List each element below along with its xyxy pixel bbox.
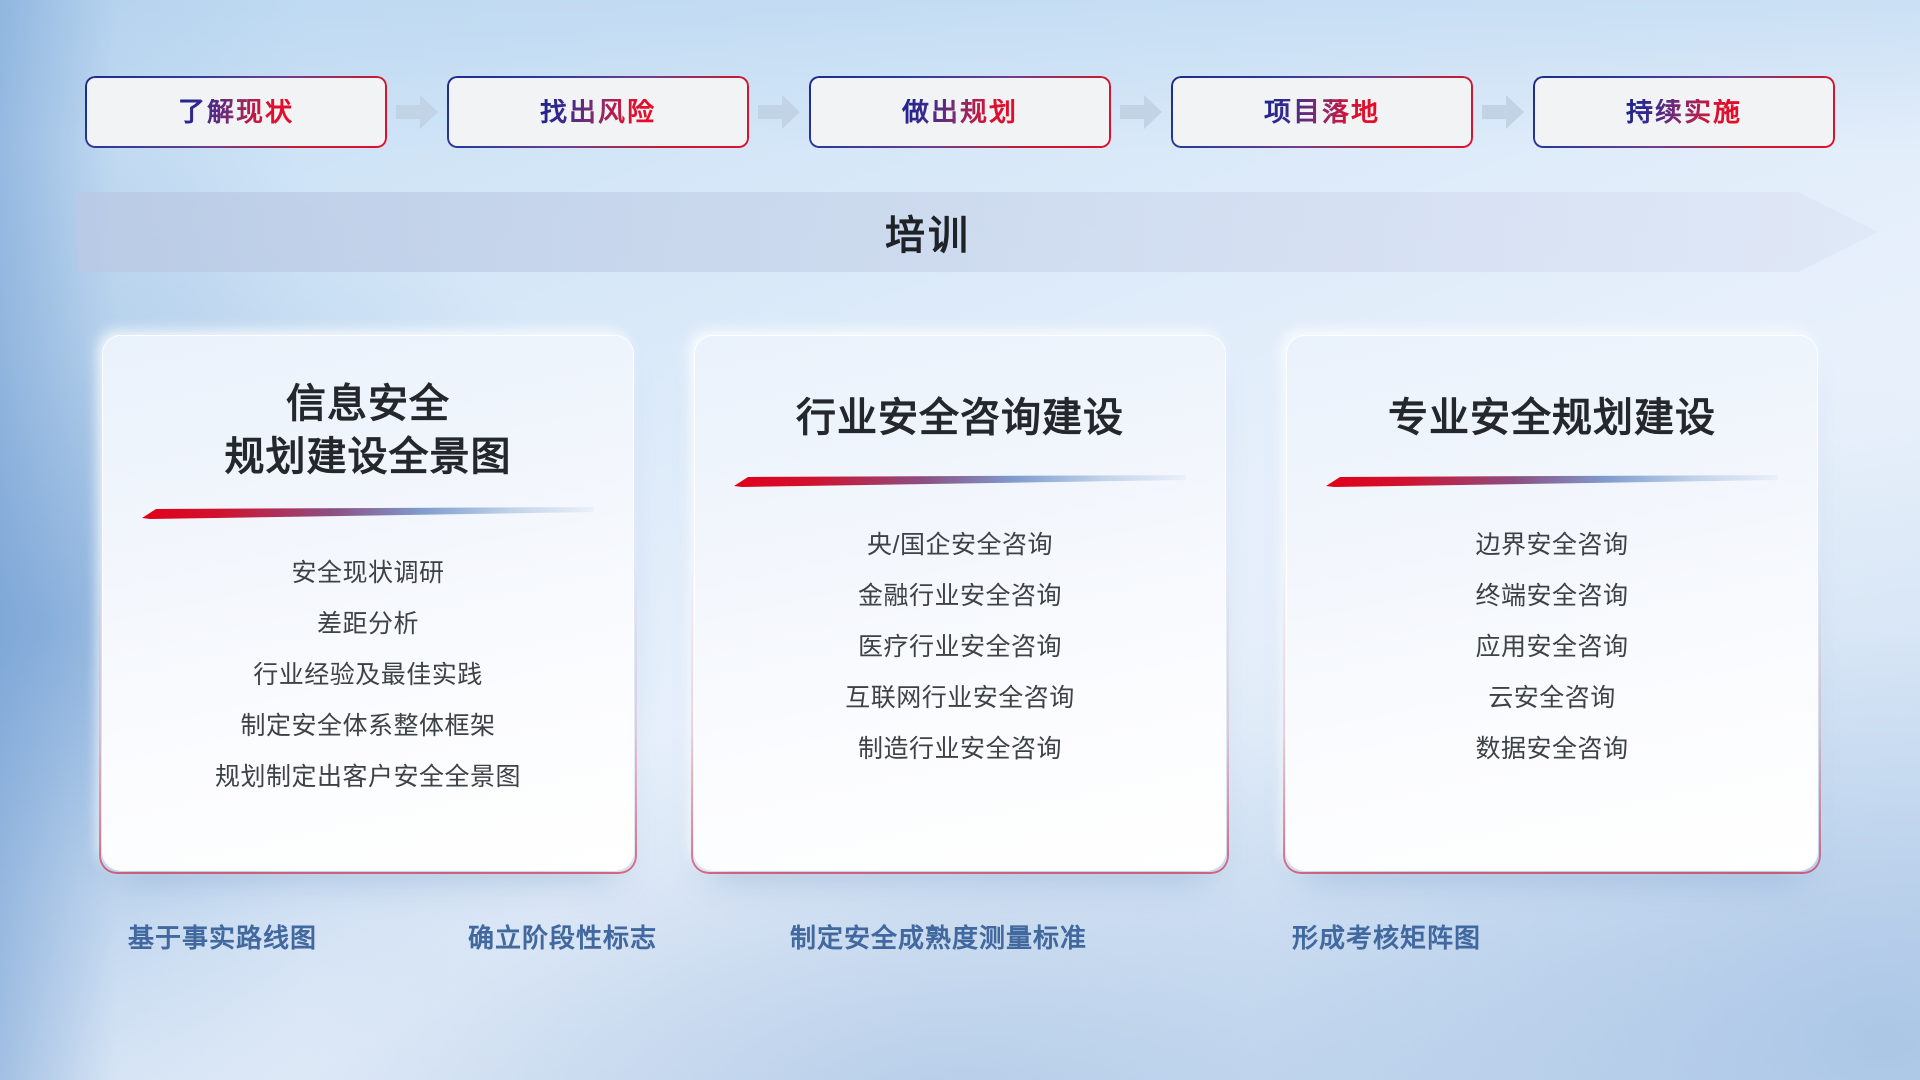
step-box-5[interactable]: 持续实施: [1533, 76, 1835, 148]
training-banner: 培训: [78, 192, 1878, 272]
bottom-label-1: 基于事实路线图: [128, 908, 317, 964]
card-list-item: 行业经验及最佳实践: [253, 650, 483, 701]
step-arrow-icon-3: [1111, 76, 1171, 148]
card-list-item: 央/国企安全咨询: [867, 520, 1053, 571]
card-list-item: 规划制定出客户安全全景图: [215, 752, 521, 803]
card-divider-3: [1326, 474, 1778, 486]
card-list-item: 安全现状调研: [291, 548, 444, 599]
card-2[interactable]: 行业安全咨询建设: [695, 336, 1225, 870]
card-list-item: 云安全咨询: [1488, 673, 1616, 724]
card-list-item: 金融行业安全咨询: [858, 571, 1062, 622]
step-arrow-icon-1: [387, 76, 447, 148]
card-row: 信息安全 规划建设全景图: [0, 336, 1920, 870]
process-step-row: 了解现状 找出风险 做出规划 项目落地 持续实施: [0, 74, 1920, 150]
card-title-1: 信息安全 规划建设全景图: [225, 378, 512, 484]
step-label-1: 了解现状: [178, 99, 294, 126]
card-list-3: 边界安全咨询 终端安全咨询 应用安全咨询 云安全咨询 数据安全咨询: [1287, 520, 1817, 775]
card-list-item: 终端安全咨询: [1475, 571, 1628, 622]
step-box-2[interactable]: 找出风险: [447, 76, 749, 148]
card-title-3: 专业安全规划建设: [1388, 392, 1716, 448]
card-list-item: 医疗行业安全咨询: [858, 622, 1062, 673]
card-list-1: 安全现状调研 差距分析 行业经验及最佳实践 制定安全体系整体框架 规划制定出客户…: [103, 548, 633, 803]
step-label-5: 持续实施: [1626, 99, 1742, 126]
card-list-item: 制造行业安全咨询: [858, 724, 1062, 775]
card-divider-1: [142, 506, 594, 518]
card-1[interactable]: 信息安全 规划建设全景图: [103, 336, 633, 870]
step-label-2: 找出风险: [540, 99, 656, 126]
bottom-label-row: 基于事实路线图 确立阶段性标志 制定安全成熟度测量标准 形成考核矩阵图: [0, 908, 1920, 964]
card-list-item: 差距分析: [317, 599, 419, 650]
card-title-2: 行业安全咨询建设: [796, 392, 1124, 448]
card-list-item: 应用安全咨询: [1475, 622, 1628, 673]
bottom-label-4: 形成考核矩阵图: [1292, 908, 1481, 964]
step-box-1[interactable]: 了解现状: [85, 76, 387, 148]
card-3[interactable]: 专业安全规划建设: [1287, 336, 1817, 870]
card-list-item: 数据安全咨询: [1475, 724, 1628, 775]
step-label-3: 做出规划: [902, 99, 1018, 126]
card-list-2: 央/国企安全咨询 金融行业安全咨询 医疗行业安全咨询 互联网行业安全咨询 制造行…: [695, 520, 1225, 775]
step-label-4: 项目落地: [1264, 99, 1380, 126]
card-divider-2: [734, 474, 1186, 486]
step-arrow-icon-4: [1473, 76, 1533, 148]
bottom-label-3: 制定安全成熟度测量标准: [790, 908, 1087, 964]
card-list-item: 互联网行业安全咨询: [845, 673, 1075, 724]
step-box-3[interactable]: 做出规划: [809, 76, 1111, 148]
bottom-label-2: 确立阶段性标志: [468, 908, 657, 964]
card-list-item: 边界安全咨询: [1475, 520, 1628, 571]
step-box-4[interactable]: 项目落地: [1171, 76, 1473, 148]
step-arrow-icon-2: [749, 76, 809, 148]
card-list-item: 制定安全体系整体框架: [240, 701, 495, 752]
banner-title: 培训: [78, 192, 1778, 272]
